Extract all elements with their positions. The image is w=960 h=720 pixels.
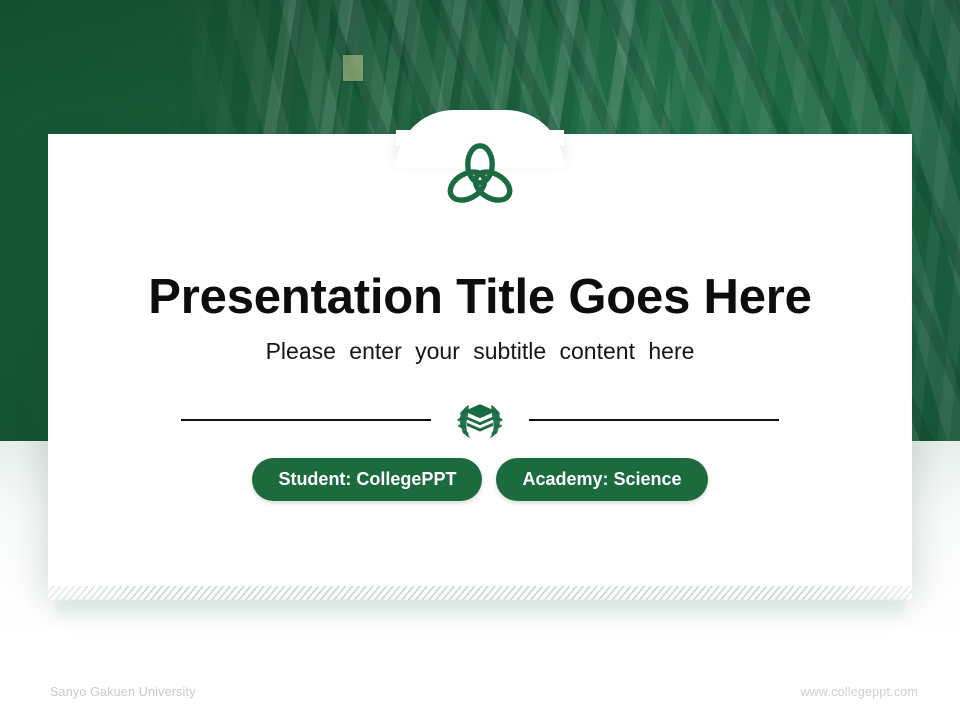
presentation-slide: Presentation Title Goes Here Please ente… (0, 0, 960, 720)
trefoil-knot-icon (438, 134, 522, 218)
footer-university-name: Sanyo Gakuen University (50, 685, 196, 699)
page-subtitle: Please enter your subtitle content here (48, 338, 912, 365)
academy-badge[interactable]: Academy: Science (496, 458, 707, 501)
card-hatch-band-fade (48, 586, 912, 600)
divider-line-left (181, 419, 431, 421)
page-title: Presentation Title Goes Here (48, 272, 912, 324)
footer-website[interactable]: www.collegeppt.com (800, 685, 918, 699)
graduation-cap-laurel-icon (453, 398, 507, 442)
divider-line-right (529, 419, 779, 421)
card-bottom-shadow (56, 600, 904, 622)
student-badge[interactable]: Student: CollegePPT (252, 458, 482, 501)
divider-row (48, 398, 912, 442)
badge-row: Student: CollegePPT Academy: Science (48, 458, 912, 501)
